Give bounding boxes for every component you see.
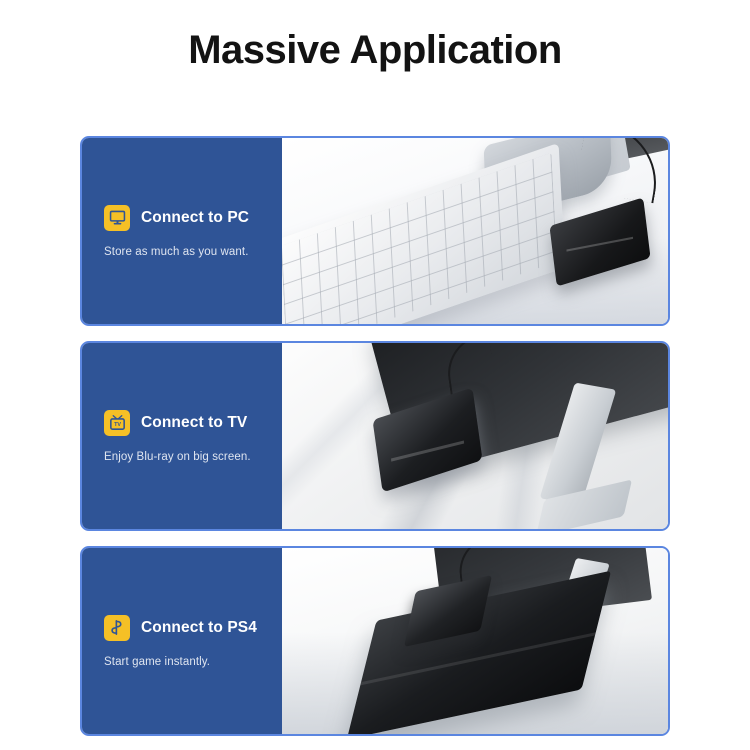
- card-heading-row: Connect to PS4: [104, 615, 272, 641]
- application-card-ps4[interactable]: Connect to PS4 Start game instantly.: [80, 546, 670, 736]
- card-subtitle: Enjoy Blu-ray on big screen.: [104, 451, 272, 463]
- card-text-panel: Connect to PS4 Start game instantly.: [82, 548, 282, 734]
- card-text-panel: Connect to PC Store as much as you want.: [82, 138, 282, 324]
- card-title: Connect to TV: [141, 414, 247, 432]
- card-title: Connect to PC: [141, 209, 249, 227]
- card-photo-ps4: [282, 548, 668, 734]
- monitor-icon: [104, 205, 130, 231]
- svg-text:TV: TV: [114, 422, 121, 428]
- card-photo-tv: [282, 343, 668, 529]
- application-card-list: Connect to PC Store as much as you want.: [80, 136, 670, 736]
- tv-icon: TV: [104, 410, 130, 436]
- card-photo-pc: [282, 138, 668, 324]
- application-card-pc[interactable]: Connect to PC Store as much as you want.: [80, 136, 670, 326]
- card-heading-row: TV Connect to TV: [104, 410, 272, 436]
- application-showcase-page: Massive Application Connect to PC Store …: [0, 0, 750, 750]
- card-text-panel: TV Connect to TV Enjoy Blu-ray on big sc…: [82, 343, 282, 529]
- card-subtitle: Store as much as you want.: [104, 246, 272, 258]
- card-subtitle: Start game instantly.: [104, 656, 272, 668]
- application-card-tv[interactable]: TV Connect to TV Enjoy Blu-ray on big sc…: [80, 341, 670, 531]
- playstation-icon: [104, 615, 130, 641]
- page-title: Massive Application: [0, 28, 750, 73]
- card-heading-row: Connect to PC: [104, 205, 272, 231]
- card-title: Connect to PS4: [141, 619, 257, 637]
